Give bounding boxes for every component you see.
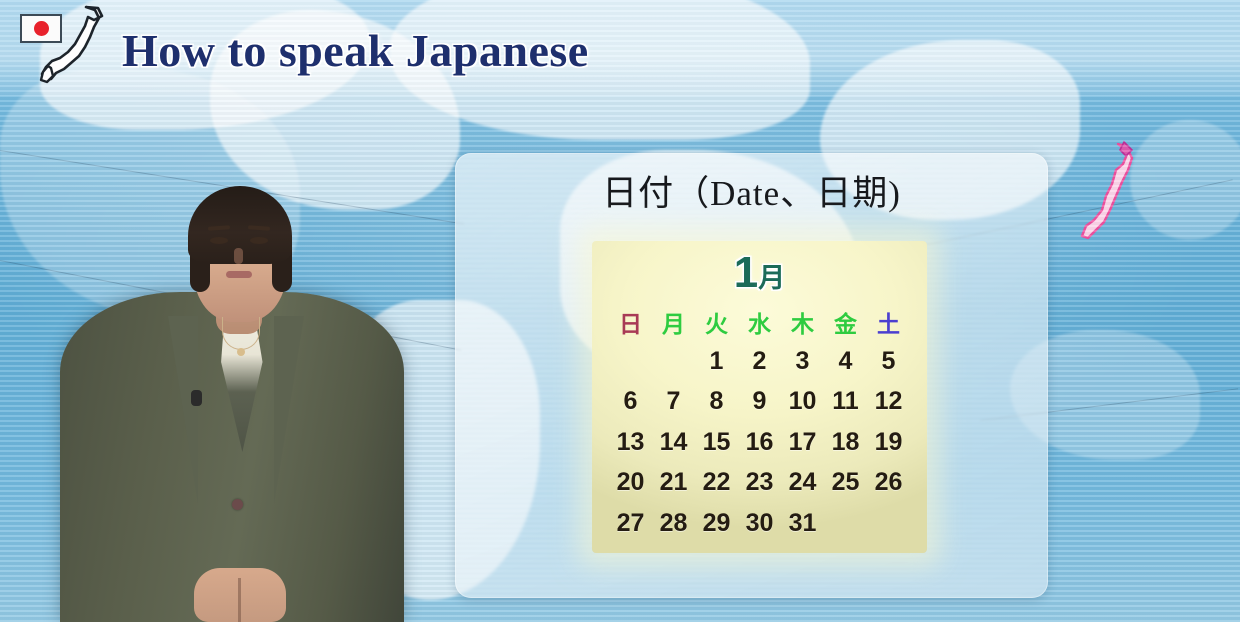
calendar-day-cell[interactable]: 10 xyxy=(781,384,824,420)
calendar-day-cell[interactable]: 16 xyxy=(738,425,781,461)
calendar-day-cell[interactable]: 30 xyxy=(738,506,781,542)
calendar-day-cell[interactable]: 2 xyxy=(738,344,781,380)
calendar-month-number: 1 xyxy=(734,248,757,297)
calendar-day-cell[interactable]: 9 xyxy=(738,384,781,420)
calendar-day-cell[interactable] xyxy=(652,344,695,380)
calendar-day-cell[interactable]: 23 xyxy=(738,465,781,501)
calendar-day-cell[interactable]: 26 xyxy=(867,465,910,501)
calendar-day-cell[interactable]: 7 xyxy=(652,384,695,420)
calendar-card: 1月 日 月 火 水 木 金 土 1 2 3 4 5 6 7 8 9 xyxy=(592,241,927,553)
calendar-dow-thursday: 木 xyxy=(781,311,824,339)
presenter-eye-left xyxy=(210,237,228,244)
calendar-day-cell[interactable]: 22 xyxy=(695,465,738,501)
presenter-figure xyxy=(42,112,422,622)
calendar-day-cell[interactable]: 4 xyxy=(824,344,867,380)
calendar-day-cell[interactable]: 29 xyxy=(695,506,738,542)
header-logo-group xyxy=(14,4,110,96)
calendar-day-cell[interactable]: 19 xyxy=(867,425,910,461)
lapel-microphone-icon xyxy=(191,390,202,406)
page-title: How to speak Japanese xyxy=(122,24,589,77)
calendar-dow-saturday: 土 xyxy=(867,311,910,339)
presenter-mouth xyxy=(226,271,252,278)
calendar-dow-friday: 金 xyxy=(824,311,867,339)
calendar-month-title: 1月 xyxy=(592,241,927,295)
calendar-dow-monday: 月 xyxy=(652,311,695,339)
calendar-grid: 日 月 火 水 木 金 土 1 2 3 4 5 6 7 8 9 10 11 xyxy=(592,311,927,541)
calendar-day-cell[interactable]: 8 xyxy=(695,384,738,420)
blazer-button xyxy=(232,499,243,510)
header-bar: How to speak Japanese xyxy=(0,0,1240,100)
calendar-day-cell[interactable]: 17 xyxy=(781,425,824,461)
calendar-day-cell[interactable]: 24 xyxy=(781,465,824,501)
calendar-day-cell[interactable]: 11 xyxy=(824,384,867,420)
presenter-eye-right xyxy=(250,237,268,244)
calendar-day-cell[interactable] xyxy=(824,506,867,542)
calendar-day-cell[interactable]: 1 xyxy=(695,344,738,380)
calendar-day-cell[interactable]: 31 xyxy=(781,506,824,542)
landmass-far-east xyxy=(1130,120,1240,240)
calendar-day-cell[interactable]: 14 xyxy=(652,425,695,461)
calendar-day-cell[interactable] xyxy=(609,344,652,380)
japan-map-icon xyxy=(38,4,110,96)
video-frame: How to speak Japanese 日付（Date、日期) 1月 xyxy=(0,0,1240,622)
calendar-day-cell[interactable]: 3 xyxy=(781,344,824,380)
presenter-pendant xyxy=(237,348,245,356)
calendar-day-cell[interactable]: 18 xyxy=(824,425,867,461)
calendar-day-cell[interactable]: 5 xyxy=(867,344,910,380)
japan-highlight-icon xyxy=(1078,140,1136,258)
calendar-dow-sunday: 日 xyxy=(609,311,652,339)
calendar-day-cell[interactable]: 12 xyxy=(867,384,910,420)
calendar-dow-tuesday: 火 xyxy=(695,311,738,339)
calendar-day-cell[interactable]: 27 xyxy=(609,506,652,542)
presenter-hand-divider xyxy=(238,578,241,622)
calendar-day-cell[interactable]: 20 xyxy=(609,465,652,501)
calendar-day-cell[interactable]: 25 xyxy=(824,465,867,501)
calendar-day-cell[interactable]: 13 xyxy=(609,425,652,461)
calendar-day-cell[interactable]: 15 xyxy=(695,425,738,461)
presenter-lapel-left xyxy=(168,316,198,504)
presenter-nose xyxy=(234,248,243,264)
content-panel: 日付（Date、日期) 1月 日 月 火 水 木 金 土 1 2 3 4 5 6 xyxy=(455,153,1048,598)
calendar-month-kanji: 月 xyxy=(758,263,785,293)
calendar-day-cell[interactable]: 28 xyxy=(652,506,695,542)
calendar-dow-wednesday: 水 xyxy=(738,311,781,339)
calendar-day-cell[interactable]: 6 xyxy=(609,384,652,420)
calendar-day-cell[interactable] xyxy=(867,506,910,542)
calendar-day-cell[interactable]: 21 xyxy=(652,465,695,501)
panel-heading: 日付（Date、日期) xyxy=(455,165,1048,216)
presenter-lapel-right xyxy=(274,316,304,504)
